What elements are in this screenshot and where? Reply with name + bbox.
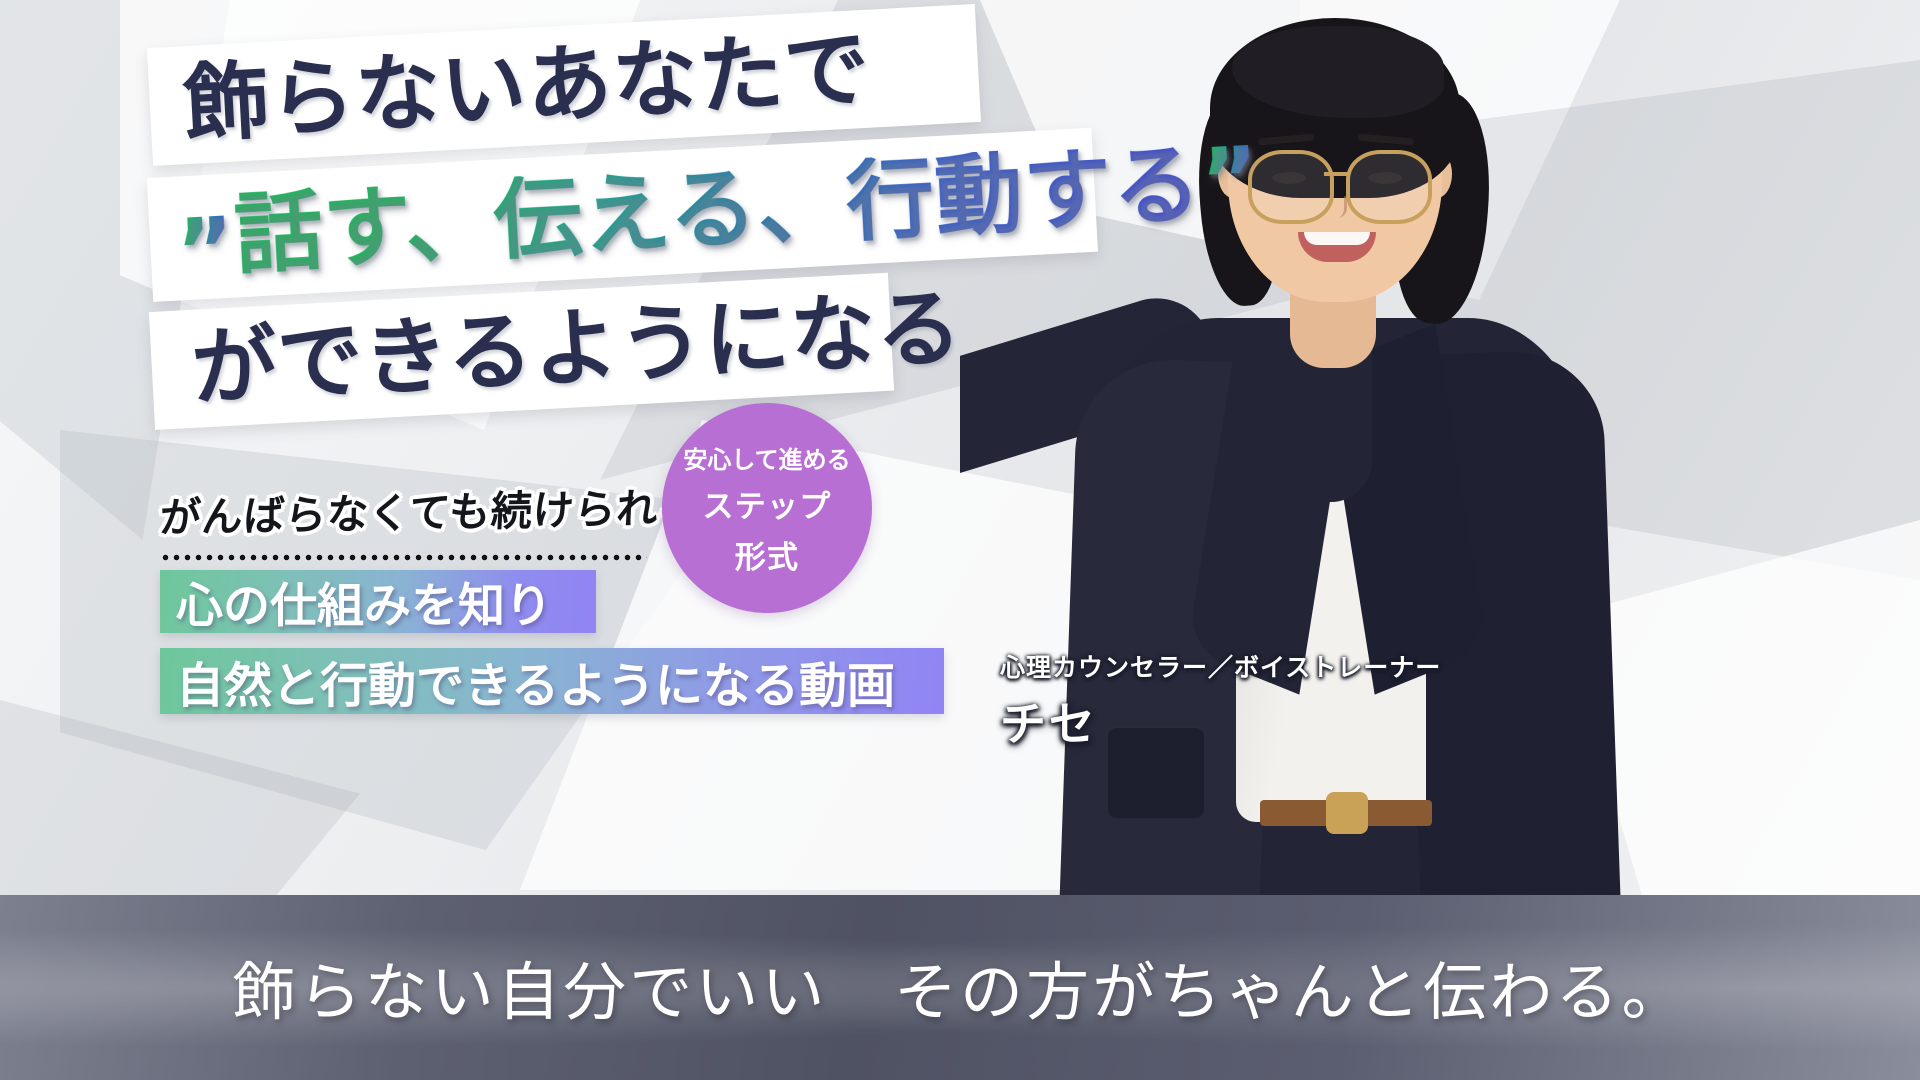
quote-open-mark: ” — [174, 206, 237, 297]
headline-line-3: ができるようになる — [190, 285, 964, 411]
teeth — [1304, 232, 1370, 245]
presenter-credit: 心理カウンセラー／ボイストレーナー チセ — [1000, 648, 1430, 754]
benefit-bar-1: 心の仕組みを知り — [160, 570, 596, 633]
badge-line-2: ステップ — [703, 481, 832, 526]
footer-tagline: 飾らない自分でいい その方がちゃんと伝わる。 — [232, 942, 1687, 1033]
glasses-bridge — [1324, 172, 1348, 176]
quote-close-mark: ” — [1199, 135, 1262, 226]
headline-line-1: 飾らないあなたで — [182, 26, 872, 147]
belt-buckle — [1326, 792, 1368, 834]
glasses-lens-right — [1346, 150, 1432, 224]
shirt-vneck — [1290, 352, 1372, 502]
benefit-bar-1-text: 心の仕組みを知り — [176, 567, 552, 636]
dotted-underline — [160, 554, 647, 561]
benefit-bar-2: 自然と行動できるようになる動画 — [160, 648, 944, 714]
step-format-badge: 安心して進める ステップ 形式 — [662, 403, 872, 613]
badge-line-3: 形式 — [735, 532, 799, 577]
badge-line-1: 安心して進める — [683, 440, 850, 475]
footer-banner: 飾らない自分でいい その方がちゃんと伝わる。 — [0, 895, 1920, 1080]
hero-banner: 飾らないあなたで ” 話す、伝える、行動する ” ができるようになる がんばらな… — [0, 0, 1920, 1080]
benefit-bar-2-text: 自然と行動できるようになる動画 — [176, 646, 895, 716]
presenter-title: 心理カウンセラー／ボイストレーナー — [1000, 648, 1430, 684]
presenter-name: チセ — [1000, 688, 1430, 754]
